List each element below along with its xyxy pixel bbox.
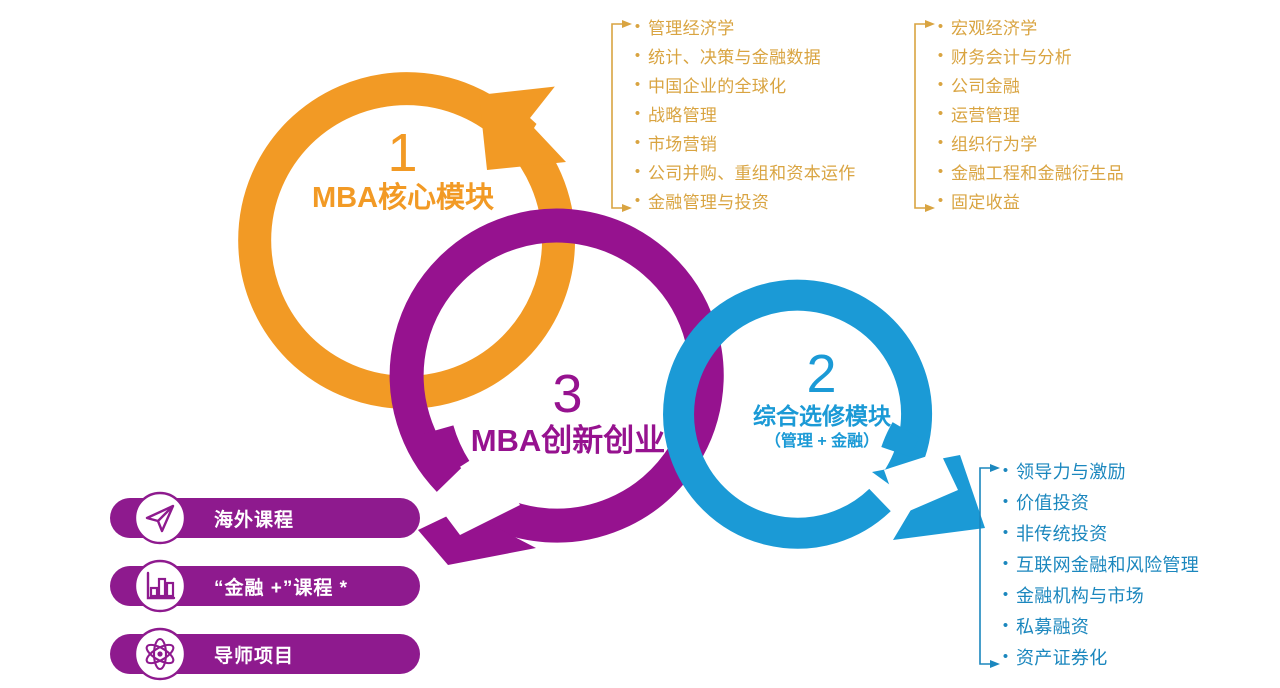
atom-icon bbox=[132, 626, 188, 682]
list-electives: •领导力与激励 •价值投资 •非传统投资 •互联网金融和风险管理 •金融机构与市… bbox=[1000, 455, 1199, 672]
list-item: •财务会计与分析 bbox=[935, 41, 1124, 70]
bullet-icon: • bbox=[935, 164, 946, 179]
list-item: •互联网金融和风险管理 bbox=[1000, 548, 1199, 579]
navigation-arrow-icon bbox=[132, 490, 188, 546]
pill-label: 导师项目 bbox=[214, 641, 294, 668]
ring-3-label: 3 MBA创新创业 bbox=[443, 367, 693, 456]
bullet-icon: • bbox=[632, 19, 643, 34]
list-core-right: •宏观经济学 •财务会计与分析 •公司金融 •运营管理 •组织行为学 •金融工程… bbox=[935, 12, 1124, 215]
list-item: •领导力与激励 bbox=[1000, 455, 1199, 486]
list-item: •中国企业的全球化 bbox=[632, 70, 856, 99]
list-item: •组织行为学 bbox=[935, 128, 1124, 157]
bullet-icon: • bbox=[935, 135, 946, 150]
ring-2-number: 2 bbox=[722, 347, 922, 401]
bullet-icon: • bbox=[1000, 494, 1011, 509]
bullet-icon: • bbox=[935, 77, 946, 92]
bracket-tip-top-electives bbox=[990, 464, 1000, 472]
bullet-icon: • bbox=[632, 106, 643, 121]
list-item: •市场营销 bbox=[632, 128, 856, 157]
list-item: •宏观经济学 bbox=[935, 12, 1124, 41]
list-item: •私募融资 bbox=[1000, 610, 1199, 641]
bracket-core-right bbox=[915, 20, 935, 212]
bullet-icon: • bbox=[1000, 649, 1011, 664]
bracket-electives-path bbox=[980, 468, 990, 664]
ring-2-title: 综合选修模块 bbox=[722, 405, 922, 428]
bracket-core-left-path bbox=[612, 24, 622, 208]
list-item: •固定收益 bbox=[935, 186, 1124, 215]
bracket-tip-bottom-left-list bbox=[622, 204, 632, 212]
bracket-tip-top-right-list bbox=[925, 20, 935, 28]
ring-2-label: 2 综合选修模块 （管理 + 金融） bbox=[722, 347, 922, 450]
ring-1-label: 1 MBA核心模块 bbox=[283, 126, 523, 213]
bullet-icon: • bbox=[1000, 556, 1011, 571]
bracket-core-right-path bbox=[915, 24, 925, 208]
list-item: •价值投资 bbox=[1000, 486, 1199, 517]
bullet-icon: • bbox=[1000, 463, 1011, 478]
ring-3-title: MBA创新创业 bbox=[443, 425, 693, 456]
bullet-icon: • bbox=[1000, 525, 1011, 540]
ring-1-number: 1 bbox=[283, 126, 523, 180]
bullet-icon: • bbox=[632, 193, 643, 208]
infographic-canvas: 1 MBA核心模块 2 综合选修模块 （管理 + 金融） 3 MBA创新创业 •… bbox=[0, 0, 1280, 688]
list-item: •公司并购、重组和资本运作 bbox=[632, 157, 856, 186]
ring-2-subtitle: （管理 + 金融） bbox=[722, 434, 922, 450]
bullet-icon: • bbox=[935, 106, 946, 121]
list-item: •管理经济学 bbox=[632, 12, 856, 41]
bracket-tip-bottom-right-list bbox=[925, 204, 935, 212]
bracket-core-left bbox=[612, 20, 632, 212]
bar-chart-icon bbox=[132, 558, 188, 614]
list-item: •公司金融 bbox=[935, 70, 1124, 99]
bullet-icon: • bbox=[935, 19, 946, 34]
list-item: •金融机构与市场 bbox=[1000, 579, 1199, 610]
list-item: •战略管理 bbox=[632, 99, 856, 128]
list-item: •资产证券化 bbox=[1000, 641, 1199, 672]
bracket-tip-top-left-list bbox=[622, 20, 632, 28]
bullet-icon: • bbox=[935, 193, 946, 208]
ring-3-number: 3 bbox=[443, 367, 693, 421]
list-item: •统计、决策与金融数据 bbox=[632, 41, 856, 70]
bullet-icon: • bbox=[1000, 587, 1011, 602]
ring-1-title: MBA核心模块 bbox=[283, 184, 523, 213]
bullet-icon: • bbox=[632, 164, 643, 179]
list-core-left: •管理经济学 •统计、决策与金融数据 •中国企业的全球化 •战略管理 •市场营销… bbox=[632, 12, 856, 215]
list-item: •金融管理与投资 bbox=[632, 186, 856, 215]
bullet-icon: • bbox=[935, 48, 946, 63]
bracket-electives bbox=[980, 464, 1000, 668]
list-item: •运营管理 bbox=[935, 99, 1124, 128]
list-item: •非传统投资 bbox=[1000, 517, 1199, 548]
bracket-tip-bottom-electives bbox=[990, 660, 1000, 668]
bullet-icon: • bbox=[632, 77, 643, 92]
pill-label: 海外课程 bbox=[214, 505, 294, 532]
pill-label: “金融 +”课程 * bbox=[214, 573, 348, 600]
bullet-icon: • bbox=[632, 48, 643, 63]
bullet-icon: • bbox=[632, 135, 643, 150]
bullet-icon: • bbox=[1000, 618, 1011, 633]
list-item: •金融工程和金融衍生品 bbox=[935, 157, 1124, 186]
